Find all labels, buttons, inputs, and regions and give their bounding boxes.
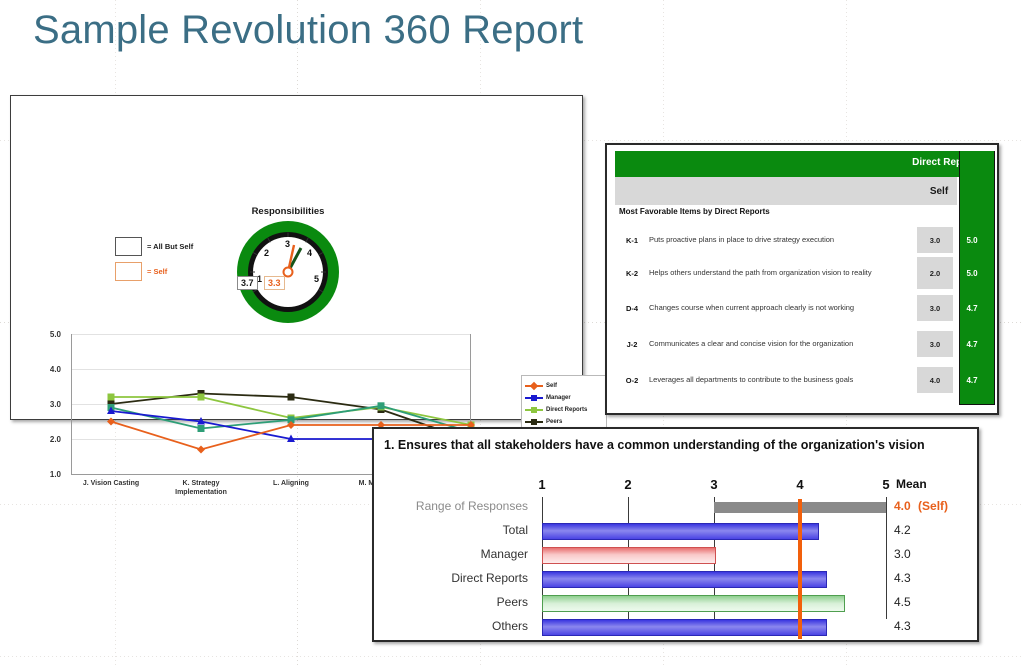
item-code: K-2 [615, 269, 649, 278]
scale-tick-1: 1 [534, 477, 550, 492]
table-row: K-2 Helps others understand the path fro… [615, 257, 993, 289]
legend-marker-manager [525, 394, 543, 402]
item-direct-reports-score: 4.7 [955, 340, 989, 349]
scale-tick-5: 5 [878, 477, 894, 492]
item-code: K-1 [615, 236, 649, 245]
legend-text-direct-reports: Direct Reports [546, 407, 587, 413]
gridline-5 [886, 497, 887, 619]
item-bar-chart: 1 2 3 4 5 Mean Range of Responses 4.0 (S… [374, 477, 977, 637]
svg-text:3: 3 [285, 239, 290, 249]
table-row: O-2 Leverages all departments to contrib… [615, 367, 993, 393]
item-self-score: 3.0 [917, 295, 953, 321]
item-text: Helps others understand the path from or… [649, 268, 917, 278]
item-text: Communicates a clear and concise vision … [649, 339, 917, 349]
responsibilities-gauge: Responsibilities 1 2 3 4 5 [215, 206, 361, 324]
page-title: Sample Revolution 360 Report [33, 8, 583, 53]
mean-range-value: 4.0 [894, 499, 911, 513]
table-row: K-1 Puts proactive plans in place to dri… [615, 227, 993, 253]
mean-column-header: Mean [896, 477, 927, 491]
gauge-title: Responsibilities [215, 206, 361, 217]
legend-marker-direct-reports [525, 406, 543, 414]
x-label-1: K. Strategy Implementation [156, 479, 246, 497]
legend-item-self: Self [525, 380, 603, 392]
overview-panel: = All But Self = Self Responsibilities [10, 95, 583, 420]
self-column-header: Self [921, 177, 957, 205]
legend-text-self: Self [546, 383, 557, 389]
x-label-2: L. Aligning [246, 479, 336, 488]
item-self-score: 3.0 [917, 331, 953, 357]
item-direct-reports-score: 4.7 [955, 376, 989, 385]
x-label-0: J. Vision Casting [66, 479, 156, 488]
bar-manager [542, 547, 716, 564]
item-question-title: 1. Ensures that all stakeholders have a … [384, 437, 959, 454]
bar-total [542, 523, 819, 540]
bar-label-manager: Manager [388, 547, 528, 561]
mean-peers: 4.5 [894, 595, 911, 609]
legend-text-peers: Peers [546, 419, 562, 425]
item-direct-reports-score: 5.0 [955, 269, 989, 278]
scale-tick-2: 2 [620, 477, 636, 492]
mean-range-self-suffix: (Self) [918, 499, 948, 513]
legend-swatch-self [115, 262, 142, 281]
item-detail-panel: 1. Ensures that all stakeholders have a … [372, 427, 979, 642]
item-text: Changes course when current approach cle… [649, 303, 917, 313]
item-code: D-4 [615, 304, 649, 313]
svg-text:4: 4 [307, 248, 312, 258]
item-text: Puts proactive plans in place to drive s… [649, 235, 917, 245]
mean-manager: 3.0 [894, 547, 911, 561]
legend-label-self: = Self [147, 267, 167, 276]
legend-swatch-all-but-self [115, 237, 142, 256]
legend-marker-self [525, 382, 543, 390]
legend-item-manager: Manager [525, 392, 603, 404]
legend-row-self: = Self [115, 262, 193, 281]
legend-label-all-but-self: = All But Self [147, 242, 193, 251]
table-row: J-2 Communicates a clear and concise vis… [615, 331, 993, 357]
legend-marker-peers [525, 418, 543, 426]
item-direct-reports-score: 4.7 [955, 304, 989, 313]
legend-row-all-but-self: = All But Self [115, 237, 193, 256]
legend-all-but-self-vs-self: = All But Self = Self [115, 237, 193, 287]
bar-label-range: Range of Responses [388, 499, 528, 513]
mean-range: 4.0 (Self) [894, 499, 948, 513]
item-direct-reports-score: 5.0 [955, 236, 989, 245]
gauge-value-self: 3.3 [264, 276, 285, 290]
item-text: Leverages all departments to contribute … [649, 375, 917, 385]
direct-reports-header-band: Direct Reports [615, 151, 989, 177]
item-code: O-2 [615, 376, 649, 385]
gauge-dial: 1 2 3 4 5 [233, 220, 343, 324]
item-self-score: 2.0 [917, 257, 953, 289]
scale-tick-3: 3 [706, 477, 722, 492]
mean-total: 4.2 [894, 523, 911, 537]
self-score-marker [798, 499, 802, 639]
legend-text-manager: Manager [546, 395, 571, 401]
scale-tick-4: 4 [792, 477, 808, 492]
favorable-section-title: Most Favorable Items by Direct Reports [619, 207, 770, 216]
svg-text:1: 1 [257, 274, 262, 284]
mean-direct-reports: 4.3 [894, 571, 911, 585]
svg-text:5: 5 [314, 274, 319, 284]
item-code: J-2 [615, 340, 649, 349]
legend-item-direct-reports: Direct Reports [525, 404, 603, 416]
table-row: D-4 Changes course when current approach… [615, 295, 993, 321]
gauge-value-all-but-self: 3.7 [237, 276, 258, 290]
svg-text:2: 2 [264, 248, 269, 258]
bar-label-total: Total [388, 523, 528, 537]
bar-direct-reports [542, 571, 827, 588]
bar-others [542, 619, 827, 636]
item-self-score: 4.0 [917, 367, 953, 393]
bar-label-direct-reports: Direct Reports [388, 571, 528, 585]
mean-others: 4.3 [894, 619, 911, 633]
table-subheader-band [615, 177, 921, 205]
bar-label-others: Others [388, 619, 528, 633]
bar-label-peers: Peers [388, 595, 528, 609]
most-favorable-items-panel: Direct Reports Self Most Favorable Items… [605, 143, 999, 415]
item-self-score: 3.0 [917, 227, 953, 253]
